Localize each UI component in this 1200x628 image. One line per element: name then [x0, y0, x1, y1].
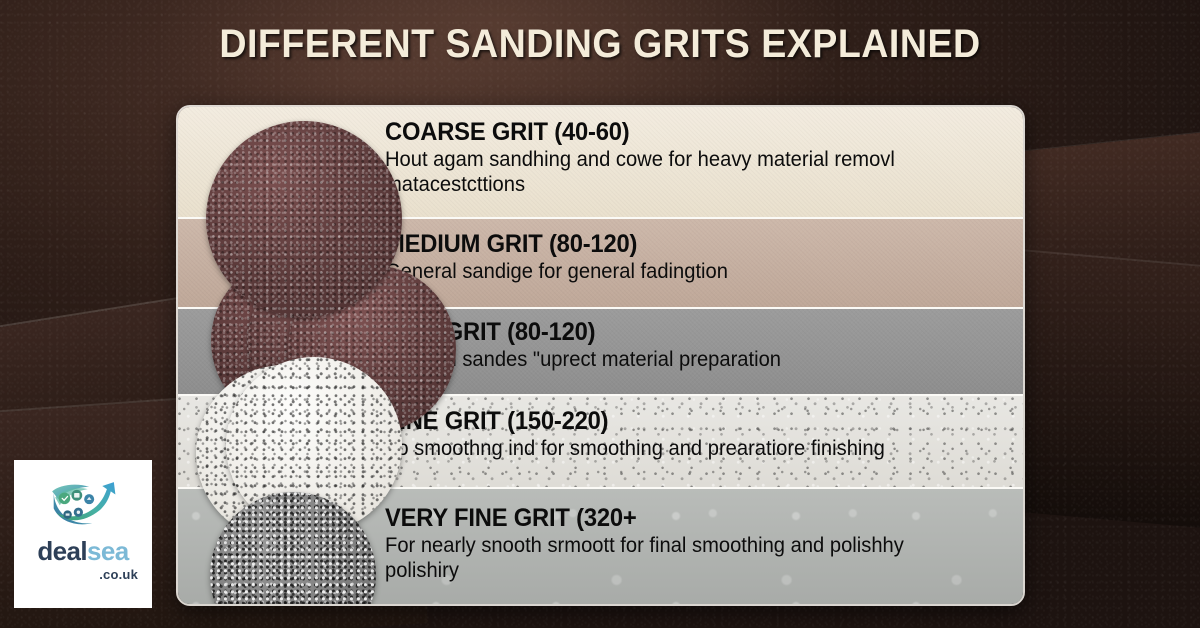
- logo-tld: .co.uk: [99, 567, 138, 582]
- grit-title-very-fine: VERY FINE GRIT (320+: [385, 505, 974, 532]
- grit-row-fine-80-120: FINE GRIT (80-120) General sandes "uprec…: [178, 307, 1023, 393]
- dealsea-swoosh-icon: [44, 476, 122, 530]
- grit-title-coarse: COARSE GRIT (40-60): [385, 119, 974, 146]
- grit-description-very-fine: For nearly snooth srmoott for final smoo…: [385, 534, 980, 584]
- page-title: DIFFERENT SANDING GRITS EXPLAINED: [36, 22, 1164, 67]
- dealsea-wordmark: dealsea: [37, 538, 128, 564]
- grit-row-coarse: COARSE GRIT (40-60) Hout agam sandhing a…: [178, 107, 1023, 217]
- grit-row-medium: MEDIUM GRIT (80-120) General sandige for…: [178, 217, 1023, 307]
- dealsea-logo-card[interactable]: dealsea .co.uk: [14, 460, 152, 608]
- grit-row-list: COARSE GRIT (40-60) Hout agam sandhing a…: [178, 107, 1023, 604]
- grit-description-fine-150-220: Fo smoothng ind for smoothing and preara…: [385, 437, 980, 462]
- row-text-very-fine: VERY FINE GRIT (320+ For nearly snooth s…: [385, 505, 1005, 584]
- row-text-coarse: COARSE GRIT (40-60) Hout agam sandhing a…: [385, 119, 1005, 198]
- logo-word-first: deal: [37, 536, 87, 566]
- grit-title-fine-80-120: FINE GRIT (80-120): [385, 319, 974, 346]
- grit-description-medium: General sandige for general fadingtion: [385, 260, 980, 285]
- grit-row-very-fine: VERY FINE GRIT (320+ For nearly snooth s…: [178, 487, 1023, 604]
- grit-chart-panel: COARSE GRIT (40-60) Hout agam sandhing a…: [176, 105, 1025, 606]
- row-text-fine-150-220: FINE GRIT (150-220) Fo smoothng ind for …: [385, 408, 1005, 462]
- grit-description-coarse: Hout agam sandhing and cowe for heavy ma…: [385, 148, 980, 198]
- grit-title-fine-150-220: FINE GRIT (150-220): [385, 408, 974, 435]
- row-text-medium: MEDIUM GRIT (80-120) General sandige for…: [385, 231, 1005, 285]
- grit-description-fine-80-120: General sandes "uprect material preparat…: [385, 348, 980, 373]
- row-text-fine-80-120: FINE GRIT (80-120) General sandes "uprec…: [385, 319, 1005, 373]
- grit-row-fine-150-220: FINE GRIT (150-220) Fo smoothng ind for …: [178, 394, 1023, 487]
- logo-word-second: sea: [87, 536, 129, 566]
- grit-title-medium: MEDIUM GRIT (80-120): [385, 231, 974, 258]
